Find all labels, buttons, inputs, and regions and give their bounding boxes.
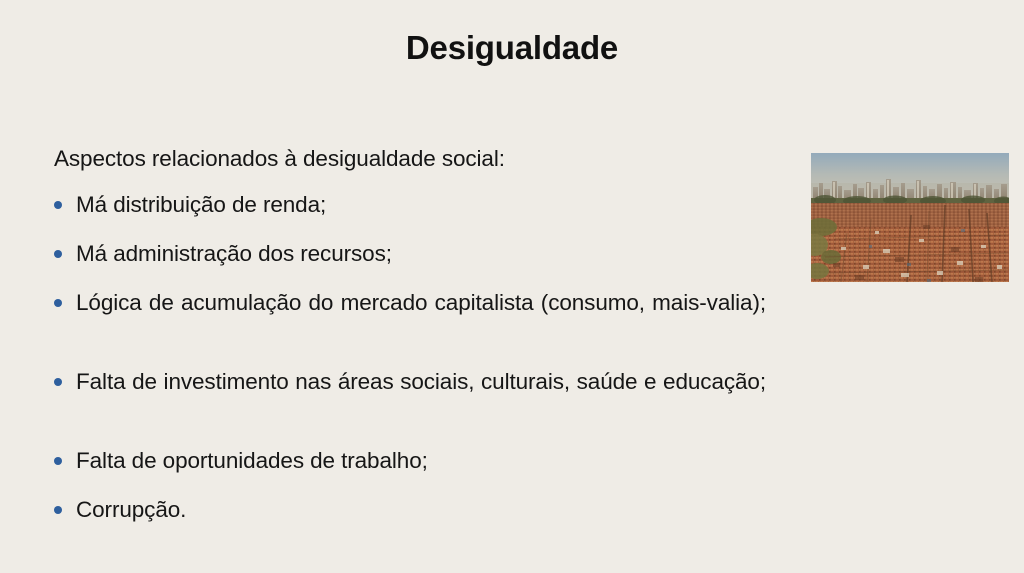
list-item: Falta de oportunidades de trabalho;	[54, 446, 766, 476]
list-item-label: Falta de oportunidades de trabalho;	[76, 448, 428, 473]
slide-canvas: Desigualdade Aspectos relacionados à des…	[0, 0, 1024, 573]
list-item: Má administração dos recursos;	[54, 239, 766, 269]
list-item-label: Lógica de acumulação do mercado capitali…	[76, 288, 766, 348]
aerial-favela-city-skyline-photo	[811, 153, 1009, 282]
bullet-list: Má distribuição de renda; Má administraç…	[54, 190, 766, 525]
intro-text: Aspectos relacionados à desigualdade soc…	[54, 144, 766, 174]
list-item: Corrupção.	[54, 495, 766, 525]
bullet-dot-icon	[54, 299, 62, 307]
bullet-dot-icon	[54, 250, 62, 258]
bullet-dot-icon	[54, 201, 62, 209]
list-item: Má distribuição de renda;	[54, 190, 766, 220]
bullet-dot-icon	[54, 457, 62, 465]
list-item-label: Má distribuição de renda;	[76, 192, 326, 217]
photo-graphic	[811, 153, 1009, 282]
bullet-dot-icon	[54, 506, 62, 514]
list-item-label: Má administração dos recursos;	[76, 241, 392, 266]
list-item-label: Falta de investimento nas áreas sociais,…	[76, 367, 766, 427]
list-item-label: Corrupção.	[76, 497, 186, 522]
list-item: Falta de investimento nas áreas sociais,…	[54, 367, 766, 427]
page-title: Desigualdade	[0, 28, 1024, 68]
list-item: Lógica de acumulação do mercado capitali…	[54, 288, 766, 348]
bullet-dot-icon	[54, 378, 62, 386]
body-content: Aspectos relacionados à desigualdade soc…	[54, 144, 766, 525]
